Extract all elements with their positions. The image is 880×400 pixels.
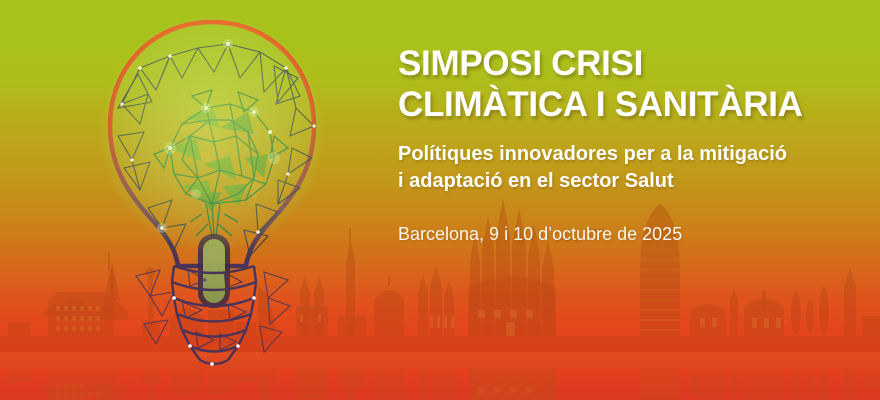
subtitle-line-2: i adaptació en el sector Salut [398,170,674,192]
subtitle-line-1: Polítiques innovadores per a la mitigaci… [398,143,787,165]
title-line-1: SIMPOSI CRISI [398,44,643,83]
banner-text-block: SIMPOSI CRISI CLIMÀTICA I SANITÀRIA Polí… [398,44,868,246]
event-banner: SIMPOSI CRISI CLIMÀTICA I SANITÀRIA Polí… [0,0,880,400]
page-title: SIMPOSI CRISI CLIMÀTICA I SANITÀRIA [398,44,868,125]
wireframe-lightbulb [78,8,348,388]
bulb-glow [104,18,320,250]
title-line-2: CLIMÀTICA I SANITÀRIA [398,85,803,124]
page-subtitle: Polítiques innovadores per a la mitigaci… [398,141,868,195]
event-date-location: Barcelona, 9 i 10 d’octubre de 2025 [398,223,868,246]
